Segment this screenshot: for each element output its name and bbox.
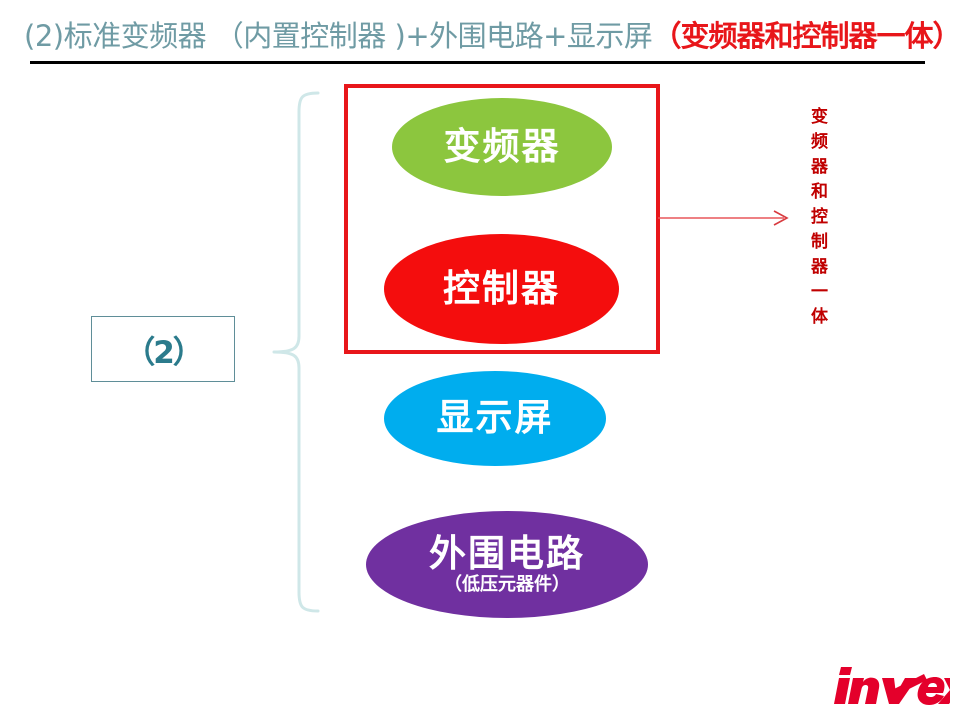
node-peripheral-circuit[interactable]: 外围电路 （低压元器件）	[366, 511, 648, 618]
invex-logo: invex	[832, 664, 950, 710]
node-inverter-label: 变频器	[444, 128, 561, 167]
node-peripheral-circuit-label: 外围电路	[429, 535, 585, 574]
left-curly-brace	[272, 90, 320, 614]
title-emphasis-text: （变频器和控制器一体）	[652, 22, 960, 51]
node-display-label: 显示屏	[437, 399, 554, 438]
slide-canvas: (2)标准变频器 （内置控制器 )+外围电路+显示屏 （变频器和控制器一体） （…	[0, 0, 960, 720]
node-controller[interactable]: 控制器	[384, 234, 619, 344]
callout-arrow-icon	[658, 204, 798, 232]
callout-vertical-text: 变频器和控制器一体	[796, 84, 830, 354]
node-controller-label: 控制器	[443, 270, 560, 309]
page-title: (2)标准变频器 （内置控制器 )+外围电路+显示屏 （变频器和控制器一体）	[24, 14, 944, 58]
node-display[interactable]: 显示屏	[384, 371, 606, 466]
title-prefix-text: (2)标准变频器 （内置控制器 )+外围电路+显示屏	[24, 22, 652, 51]
node-inverter[interactable]: 变频器	[392, 98, 612, 196]
title-underline-rule	[30, 61, 925, 64]
node-peripheral-circuit-sublabel: （低压元器件）	[444, 575, 570, 595]
group-number-label: （2）	[124, 327, 202, 372]
group-number-box: （2）	[91, 316, 235, 382]
